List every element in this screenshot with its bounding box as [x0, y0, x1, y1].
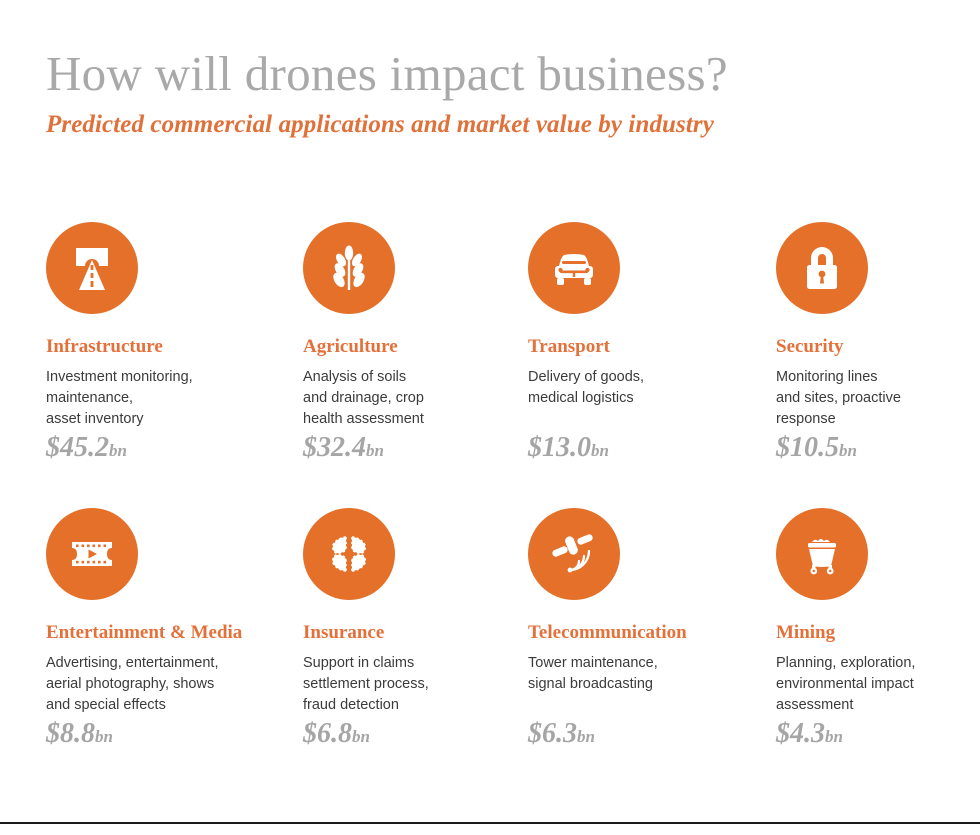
desc-line: Advertising, entertainment,	[46, 653, 303, 674]
desc-line: and drainage, crop	[303, 388, 528, 409]
card-description: Support in claims settlement process, fr…	[303, 653, 528, 716]
value-unit: bn	[591, 441, 609, 460]
industry-card-transport[interactable]: Transport Delivery of goods, medical log…	[528, 222, 776, 409]
card-value: $4.3bn	[776, 718, 843, 750]
card-value: $6.8bn	[303, 718, 370, 750]
car-front-icon	[528, 222, 620, 314]
value-unit: bn	[366, 441, 384, 460]
card-description: Investment monitoring, maintenance, asse…	[46, 367, 303, 430]
card-heading: Agriculture	[303, 336, 528, 358]
wheat-stalk-icon	[303, 222, 395, 314]
satellite-signal-icon	[528, 508, 620, 600]
value-unit: bn	[109, 441, 127, 460]
desc-line: assessment	[776, 695, 948, 716]
desc-line: Delivery of goods,	[528, 367, 776, 388]
card-value: $6.3bn	[528, 718, 595, 750]
tunnel-road-icon	[46, 222, 138, 314]
card-heading: Transport	[528, 336, 776, 358]
card-heading: Mining	[776, 622, 948, 644]
padlock-icon	[776, 222, 868, 314]
value-amount: $32.4	[303, 432, 366, 463]
industry-card-telecommunication[interactable]: Telecommunication Tower maintenance, sig…	[528, 508, 776, 695]
desc-line: maintenance,	[46, 388, 303, 409]
value-unit: bn	[839, 441, 857, 460]
industry-card-security[interactable]: Security Monitoring lines and sites, pro…	[776, 222, 948, 430]
value-amount: $45.2	[46, 432, 109, 463]
industry-card-mining[interactable]: Mining Planning, exploration, environmen…	[776, 508, 948, 716]
desc-line: signal broadcasting	[528, 674, 776, 695]
cracked-circle-quadrants-icon	[303, 508, 395, 600]
card-description: Delivery of goods, medical logistics	[528, 367, 776, 409]
value-amount: $13.0	[528, 432, 591, 463]
desc-line: aerial photography, shows	[46, 674, 303, 695]
card-heading: Security	[776, 336, 948, 358]
value-unit: bn	[825, 727, 843, 746]
card-heading: Infrastructure	[46, 336, 303, 358]
card-value: $13.0bn	[528, 432, 609, 464]
desc-line: and special effects	[46, 695, 303, 716]
desc-line: Monitoring lines	[776, 367, 948, 388]
card-value: $32.4bn	[303, 432, 384, 464]
desc-line: Analysis of soils	[303, 367, 528, 388]
card-description: Planning, exploration, environmental imp…	[776, 653, 948, 716]
desc-line: health assessment	[303, 409, 528, 430]
bottom-divider	[0, 822, 980, 824]
desc-line: and sites, proactive	[776, 388, 948, 409]
industry-card-agriculture[interactable]: Agriculture Analysis of soils and draina…	[303, 222, 528, 430]
film-strip-play-icon	[46, 508, 138, 600]
header: How will drones impact business? Predict…	[46, 48, 946, 139]
card-value: $10.5bn	[776, 432, 857, 464]
infographic-page: How will drones impact business? Predict…	[0, 0, 980, 835]
card-description: Monitoring lines and sites, proactive re…	[776, 367, 948, 430]
card-value: $45.2bn	[46, 432, 127, 464]
industry-card-insurance[interactable]: Insurance Support in claims settlement p…	[303, 508, 528, 716]
card-description: Advertising, entertainment, aerial photo…	[46, 653, 303, 716]
industry-grid: Infrastructure Investment monitoring, ma…	[46, 222, 948, 716]
value-amount: $8.8	[46, 718, 95, 749]
page-subtitle: Predicted commercial applications and ma…	[46, 111, 946, 139]
value-amount: $10.5	[776, 432, 839, 463]
card-heading: Insurance	[303, 622, 528, 644]
desc-line: Investment monitoring,	[46, 367, 303, 388]
desc-line: medical logistics	[528, 388, 776, 409]
desc-line: Support in claims	[303, 653, 528, 674]
desc-line: settlement process,	[303, 674, 528, 695]
industry-row-1: Infrastructure Investment monitoring, ma…	[46, 222, 948, 430]
card-heading: Entertainment & Media	[46, 622, 303, 644]
desc-line: asset inventory	[46, 409, 303, 430]
card-value: $8.8bn	[46, 718, 113, 750]
value-unit: bn	[577, 727, 595, 746]
value-amount: $4.3	[776, 718, 825, 749]
desc-line: fraud detection	[303, 695, 528, 716]
desc-line: environmental impact	[776, 674, 948, 695]
desc-line: response	[776, 409, 948, 430]
value-amount: $6.8	[303, 718, 352, 749]
industry-row-2: Entertainment & Media Advertising, enter…	[46, 508, 948, 716]
desc-line: Tower maintenance,	[528, 653, 776, 674]
mine-cart-icon	[776, 508, 868, 600]
desc-line: Planning, exploration,	[776, 653, 948, 674]
value-amount: $6.3	[528, 718, 577, 749]
industry-card-entertainment-media[interactable]: Entertainment & Media Advertising, enter…	[46, 508, 303, 716]
card-heading: Telecommunication	[528, 622, 776, 644]
card-description: Tower maintenance, signal broadcasting	[528, 653, 776, 695]
card-description: Analysis of soils and drainage, crop hea…	[303, 367, 528, 430]
page-title: How will drones impact business?	[46, 48, 946, 99]
value-unit: bn	[95, 727, 113, 746]
value-unit: bn	[352, 727, 370, 746]
industry-card-infrastructure[interactable]: Infrastructure Investment monitoring, ma…	[46, 222, 303, 430]
